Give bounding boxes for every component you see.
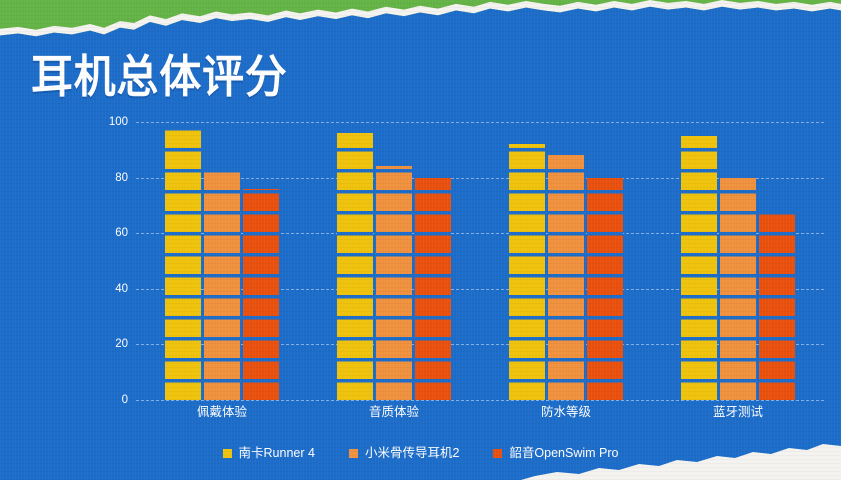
bar-1-3[interactable]	[509, 144, 545, 400]
bar-2-4[interactable]	[720, 178, 756, 400]
bar-1-4[interactable]	[681, 136, 717, 400]
bar-3-2[interactable]	[415, 178, 451, 400]
slide-canvas: 耳机总体评分 100 80 60 40 20 0 佩戴体验音质体验防水等级蓝牙测…	[0, 0, 841, 480]
x-tick-label: 佩戴体验	[136, 404, 308, 420]
y-tick-80: 80	[115, 172, 128, 184]
legend-label: 韶音OpenSwim Pro	[509, 446, 618, 460]
bar-fill	[587, 178, 623, 400]
bar-group	[681, 122, 795, 400]
bar-1-1[interactable]	[165, 128, 201, 400]
bar-fill	[681, 136, 717, 400]
legend-label: 小米骨传导耳机2	[365, 446, 459, 460]
bar-fill	[337, 133, 373, 400]
bar-group	[337, 122, 451, 400]
y-tick-20: 20	[115, 338, 128, 350]
bar-group	[165, 122, 279, 400]
bar-fill	[759, 211, 795, 400]
legend-label: 南卡Runner 4	[239, 446, 315, 460]
y-tick-40: 40	[115, 283, 128, 295]
bar-fill	[415, 178, 451, 400]
bar-2-1[interactable]	[204, 169, 240, 400]
bar-3-3[interactable]	[587, 178, 623, 400]
bar-fill	[204, 169, 240, 400]
bar-fill	[509, 144, 545, 400]
bar-1-2[interactable]	[337, 133, 373, 400]
y-tick-0: 0	[122, 394, 128, 406]
y-axis-labels: 100 80 60 40 20 0	[76, 122, 128, 400]
legend-swatch-icon	[223, 449, 232, 458]
bar-fill	[720, 178, 756, 400]
bar-chart: 100 80 60 40 20 0 佩戴体验音质体验防水等级蓝牙测试	[0, 0, 841, 480]
bar-fill	[548, 155, 584, 400]
gridline-0	[136, 400, 824, 401]
bar-fill	[243, 189, 279, 400]
bar-3-1[interactable]	[243, 189, 279, 400]
bar-fill	[165, 128, 201, 400]
x-tick-label: 音质体验	[308, 404, 480, 420]
legend-swatch-icon	[349, 449, 358, 458]
bar-3-4[interactable]	[759, 211, 795, 400]
bar-groups	[136, 122, 824, 400]
y-tick-100: 100	[109, 116, 128, 128]
legend-item-2[interactable]: 小米骨传导耳机2	[349, 446, 459, 460]
bar-group	[509, 122, 623, 400]
x-axis-labels: 佩戴体验音质体验防水等级蓝牙测试	[136, 404, 824, 428]
x-tick-label: 防水等级	[480, 404, 652, 420]
chart-legend: 南卡Runner 4小米骨传导耳机2韶音OpenSwim Pro	[0, 443, 841, 463]
x-tick-label: 蓝牙测试	[652, 404, 824, 420]
y-tick-60: 60	[115, 227, 128, 239]
bar-2-3[interactable]	[548, 155, 584, 400]
bar-2-2[interactable]	[376, 166, 412, 400]
legend-swatch-icon	[493, 449, 502, 458]
legend-item-1[interactable]: 南卡Runner 4	[223, 446, 315, 460]
bar-fill	[376, 166, 412, 400]
legend-item-3[interactable]: 韶音OpenSwim Pro	[493, 446, 618, 460]
